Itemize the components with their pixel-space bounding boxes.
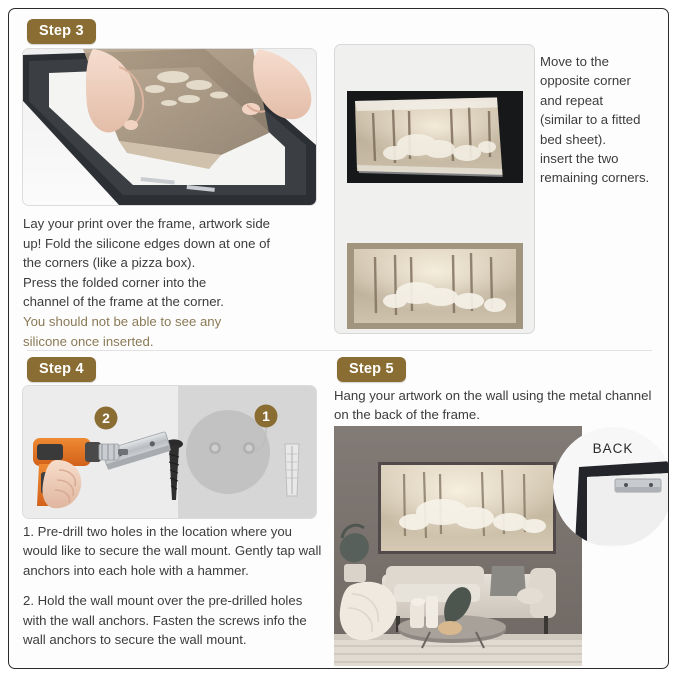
step-4-badge-wrap: Step 4 [27,357,96,382]
side-note-line: remaining corners. [540,168,669,187]
step-3-artwork-panel [334,44,535,334]
step-3-caption: Lay your print over the frame, artwork s… [23,214,323,351]
artwork-finished-view [347,243,523,329]
caption-line: the corners (like a pizza box). [23,253,323,273]
step-4-paragraph: 1. Pre-drill two holes in the location w… [23,522,328,580]
caption-line: up! Fold the silicone edges down at one … [23,234,323,254]
marker-2-badge: 2 [95,407,118,430]
side-note-line: Move to the [540,52,669,71]
wall-anchor-shape [285,444,299,496]
step-3-section: Step 3 [9,9,669,334]
caption-warning-line: You should not be able to see any [23,312,323,332]
svg-text:1: 1 [262,408,270,424]
step-5-badge-wrap: Step 5 [337,357,406,382]
side-note-line: insert the two [540,149,669,168]
section-divider [27,350,652,351]
drill-and-anchor-illustration: 2 1 [23,386,316,518]
step-5-badge: Step 5 [337,357,406,382]
artwork-flat-illustration [347,243,523,329]
frame-back-channel-illustration [553,427,669,547]
step-5-caption: Hang your artwork on the wall using the … [334,386,654,425]
caption-line: Press the folded corner into the [23,273,323,293]
step-3-side-note: Move to the opposite corner and repeat (… [540,52,669,188]
back-of-frame-inset: BACK [553,427,669,547]
caption-line: Lay your print over the frame, artwork s… [23,214,323,234]
marker-1-badge: 1 [255,405,278,428]
side-note-line: opposite corner [540,71,669,90]
step-4-caption: 1. Pre-drill two holes in the location w… [23,522,328,660]
step-4-badge: Step 4 [27,357,96,382]
step-5-photo-living-room [334,426,582,666]
caption-line: channel of the frame at the corner. [23,292,323,312]
fold-corner-illustration [23,49,316,205]
artwork-inserting-view [347,91,523,183]
step-4-paragraph: 2. Hold the wall mount over the pre-dril… [23,591,328,649]
living-room-illustration [334,426,582,666]
side-note-line: and repeat [540,91,669,110]
step-3-photo-fold-corner [22,48,317,206]
artwork-wrinkled-illustration [347,91,523,183]
step-5-section: Step 5 Hang your artwork on the wall usi… [331,354,669,669]
caption-warning-line: silicone once inserted. [23,332,323,352]
side-note-line: bed sheet). [540,130,669,149]
step-4-section: Step 4 [9,354,339,669]
step-3-badge-wrap: Step 3 [27,19,96,44]
step-4-photo-drill-mount: 2 1 [22,385,317,519]
side-note-line: (similar to a fitted [540,110,669,129]
svg-text:2: 2 [102,410,110,426]
instruction-sheet: Step 3 [8,8,669,669]
step-3-badge: Step 3 [27,19,96,44]
